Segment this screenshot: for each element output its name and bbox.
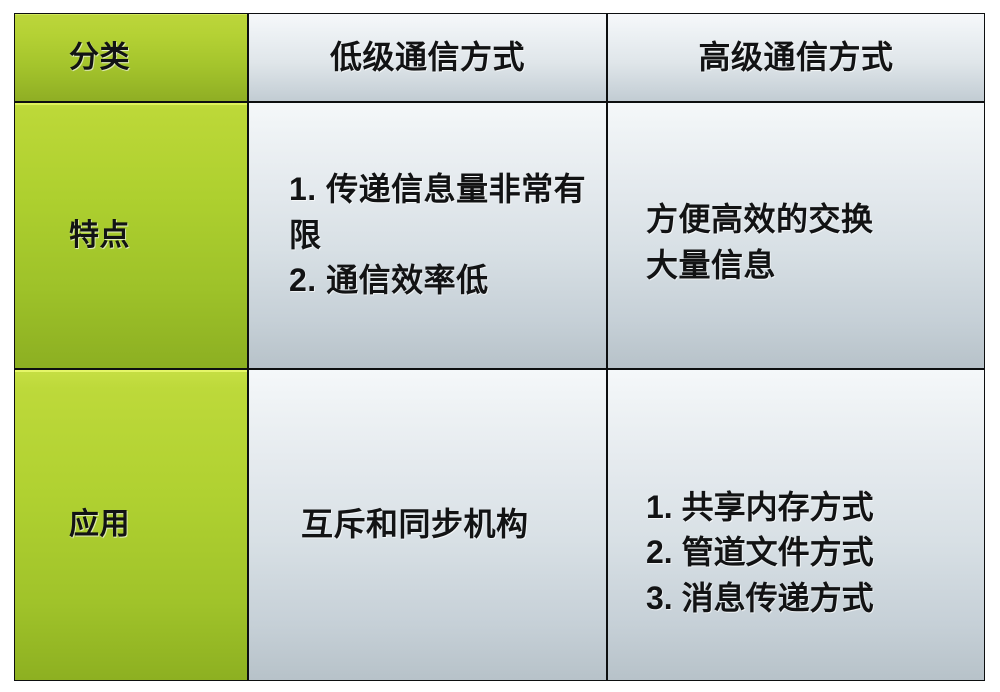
row-label-cell-application: 应用 xyxy=(14,369,248,681)
header-label-high-level: 高级通信方式 xyxy=(608,37,984,79)
cell-features-high-level: 方便高效的交换 大量信息 xyxy=(607,102,985,369)
header-cell-low-level: 低级通信方式 xyxy=(248,13,607,102)
table-row: 应用 互斥和同步机构 1. 共享内存方式 2. 管道文件方式 3. 消息传递方式 xyxy=(14,369,985,681)
comparison-table: 分类 低级通信方式 高级通信方式 特点 1. 传递信息量非常有限 2. 通信效率… xyxy=(14,13,985,681)
cell-text-application-low-level: 互斥和同步机构 xyxy=(249,502,606,547)
cell-application-low-level: 互斥和同步机构 xyxy=(248,369,607,681)
page-canvas: 分类 低级通信方式 高级通信方式 特点 1. 传递信息量非常有限 2. 通信效率… xyxy=(0,0,1000,692)
table-header-row: 分类 低级通信方式 高级通信方式 xyxy=(14,13,985,102)
cell-text-application-high-level: 1. 共享内存方式 2. 管道文件方式 3. 消息传递方式 xyxy=(608,429,984,621)
header-cell-high-level: 高级通信方式 xyxy=(607,13,985,102)
row-label-cell-features: 特点 xyxy=(14,102,248,369)
cell-application-high-level: 1. 共享内存方式 2. 管道文件方式 3. 消息传递方式 xyxy=(607,369,985,681)
header-label-low-level: 低级通信方式 xyxy=(249,37,606,79)
cell-text-features-high-level: 方便高效的交换 大量信息 xyxy=(608,183,984,288)
cell-text-features-low-level: 1. 传递信息量非常有限 2. 通信效率低 xyxy=(249,167,606,303)
table-row: 特点 1. 传递信息量非常有限 2. 通信效率低 方便高效的交换 大量信息 xyxy=(14,102,985,369)
row-label-application: 应用 xyxy=(15,506,247,544)
row-label-features: 特点 xyxy=(15,217,247,255)
header-cell-category: 分类 xyxy=(14,13,248,102)
header-label-category: 分类 xyxy=(15,39,247,77)
cell-features-low-level: 1. 传递信息量非常有限 2. 通信效率低 xyxy=(248,102,607,369)
